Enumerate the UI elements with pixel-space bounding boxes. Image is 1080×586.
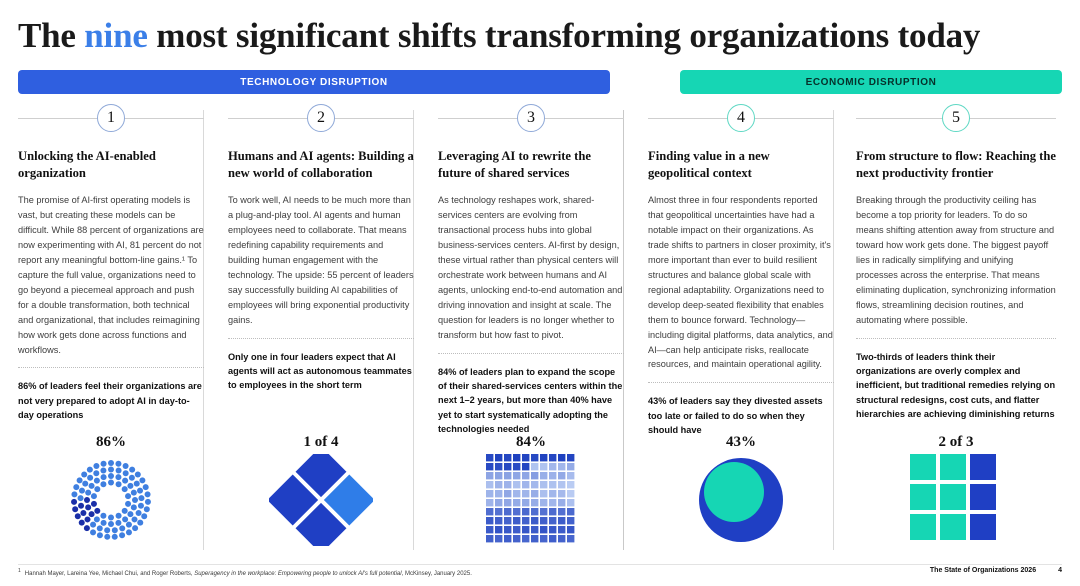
waffle-cell (486, 490, 493, 497)
page-title: The nine most significant shifts transfo… (18, 16, 1062, 56)
donut-dot-filled (143, 484, 149, 490)
waffle-cell (522, 517, 529, 524)
donut-dot-remainder (75, 513, 81, 519)
donut-dot-filled (82, 481, 88, 487)
page-number: 4 (1058, 567, 1062, 574)
waffle-cell (495, 454, 502, 461)
waffle-cell (549, 481, 556, 488)
waffle-cell (504, 490, 511, 497)
waffle-cell (549, 508, 556, 515)
column-number-row: 2 (228, 104, 414, 134)
waffle-cell (540, 490, 547, 497)
waffle-cell (567, 508, 574, 515)
donut-dot-remainder (94, 508, 100, 514)
grid-cell-remainder (970, 514, 996, 540)
waffle-cell (531, 472, 538, 479)
grid-cell-highlighted (940, 514, 966, 540)
waffle-cell (504, 508, 511, 515)
section-banners: TECHNOLOGY DISRUPTION ECONOMIC DISRUPTIO… (18, 70, 1062, 94)
stat-divider-2 (228, 338, 414, 339)
column-number-row: 3 (438, 104, 624, 134)
donut-dot-filled (78, 495, 84, 501)
waffle-cell (567, 481, 574, 488)
waffle-cell (531, 481, 538, 488)
donut-dot-filled (126, 522, 132, 528)
donut-dot-remainder (85, 516, 91, 522)
donut-dot-filled (119, 532, 125, 538)
shift-column-3: 3 Leveraging AI to rewrite the future of… (438, 104, 624, 554)
donut-dot-filled (116, 467, 122, 473)
waffle-cell (540, 535, 547, 542)
waffle-cell (531, 499, 538, 506)
column-heading-4: Finding value in a new geopolitical cont… (648, 148, 834, 181)
donut-dot-filled (112, 527, 118, 533)
number-badge-2: 2 (307, 104, 335, 132)
donut-dot-filled (138, 495, 144, 501)
donut-dot-filled (108, 515, 114, 521)
figure-label-1: 86% (18, 434, 204, 454)
waffle-cell (522, 481, 529, 488)
number-badge-5: 5 (942, 104, 970, 132)
donut-dot-filled (137, 520, 143, 526)
waffle-cell (504, 499, 511, 506)
donut-dot-filled (132, 497, 138, 503)
donut-dot-filled (116, 513, 122, 519)
waffle-cell (531, 463, 538, 470)
waffle-cell (540, 499, 547, 506)
waffle-cell (522, 526, 529, 533)
donut-dot-filled (108, 473, 114, 479)
donut-dot-filled (125, 493, 131, 499)
donut-dot-filled (131, 504, 137, 510)
column-body-2: To work well, AI needs to be much more t… (228, 193, 414, 327)
page-footer: 1Hannah Mayer, Lareina Yee, Michael Chui… (0, 566, 1080, 582)
donut-dot-filled (137, 488, 143, 494)
donut-dot-filled (138, 503, 144, 509)
waffle-cell (531, 535, 538, 542)
waffle-cell (495, 535, 502, 542)
waffle-cell (540, 526, 547, 533)
donut-dot-filled (139, 477, 145, 483)
figure-1: 86% (18, 434, 204, 554)
donut-dot-filled (91, 493, 97, 499)
donut-dot-filled (116, 481, 122, 487)
waffle-cell (486, 472, 493, 479)
waffle-cell (495, 517, 502, 524)
grid-cell-remainder (970, 484, 996, 510)
column-stat-5: Two-thirds of leaders think their organi… (856, 350, 1056, 422)
donut-dot-filled (93, 463, 99, 469)
waffle-cell (567, 535, 574, 542)
title-highlight-word: nine (84, 16, 147, 55)
waffle-cell (495, 499, 502, 506)
donut-dot-filled (94, 486, 100, 492)
donut-dot-filled (145, 491, 151, 497)
waffle-cell (522, 499, 529, 506)
donut-dot-remainder (71, 499, 77, 505)
column-stat-1: 86% of leaders feel their organizations … (18, 379, 204, 422)
grid-cell-highlighted (940, 454, 966, 480)
waffle-cell (558, 526, 565, 533)
donut-dot-filled (104, 534, 110, 540)
donut-dot-filled (90, 522, 96, 528)
column-number-row: 5 (856, 104, 1056, 134)
donut-dot-filled (112, 534, 118, 540)
donut-dot-filled (100, 481, 106, 487)
column-heading-2: Humans and AI agents: Building a new wor… (228, 148, 414, 181)
donut-dot-filled (136, 510, 142, 516)
waffle-cell (540, 517, 547, 524)
footnote-marker: 1 (18, 568, 21, 574)
waffle-cell (558, 463, 565, 470)
donut-dot-filled (101, 474, 107, 480)
diamond-quad-chart (269, 454, 373, 546)
donut-dot-filled (122, 508, 128, 514)
column-body-5: Breaking through the productivity ceilin… (856, 193, 1056, 327)
donut-dot-remainder (80, 510, 86, 516)
waffle-cell (495, 472, 502, 479)
donut-dot-filled (122, 516, 128, 522)
donut-dot-filled (115, 520, 121, 526)
donut-dot-filled (131, 490, 137, 496)
donut-dot-filled (145, 499, 151, 505)
donut-dot-filled (104, 527, 110, 533)
columns-container: 1 Unlocking the AI-enabled organization … (18, 104, 1062, 554)
report-name: The State of Organizations 2026 (930, 567, 1036, 574)
waffle-cell (495, 490, 502, 497)
waffle-cell (522, 535, 529, 542)
column-body-3: As technology reshapes work, shared-serv… (438, 193, 624, 342)
stat-divider-5 (856, 338, 1056, 339)
grid-cell-highlighted (940, 484, 966, 510)
donut-dot-remainder (91, 501, 97, 507)
waffle-cell (567, 463, 574, 470)
waffle-cell (558, 499, 565, 506)
donut-dot-remainder (72, 506, 78, 512)
waffle-cell (531, 454, 538, 461)
waffle-cell (549, 526, 556, 533)
column-body-1: The promise of AI-first operating models… (18, 193, 204, 357)
footnote-title: Superagency in the workplace: Empowering… (194, 571, 401, 577)
donut-dot-filled (89, 483, 95, 489)
number-badge-3: 3 (517, 104, 545, 132)
donut-dot-filled (94, 478, 100, 484)
waffle-cell (504, 517, 511, 524)
waffle-cell (495, 481, 502, 488)
waffle-cell (486, 481, 493, 488)
waffle-cell (558, 454, 565, 461)
waffle-cell (549, 472, 556, 479)
column-number-row: 4 (648, 104, 834, 134)
waffle-cell (540, 463, 547, 470)
figure-art-dot-donut (18, 454, 204, 550)
shift-column-5: 5 From structure to flow: Reaching the n… (856, 104, 1056, 554)
figure-label-2: 1 of 4 (228, 434, 414, 454)
donut-dot-filled (100, 467, 106, 473)
waffle-cell (513, 526, 520, 533)
figure-5: 2 of 3 (856, 434, 1056, 554)
shift-column-1: 1 Unlocking the AI-enabled organization … (18, 104, 204, 554)
waffle-cell (549, 490, 556, 497)
waffle-cell (513, 463, 520, 470)
figure-art-circles (648, 454, 834, 550)
waffle-cell (549, 463, 556, 470)
circle-share (704, 462, 764, 522)
waffle-cell (567, 517, 574, 524)
waffle-grid-chart (486, 454, 576, 544)
waffle-cell (549, 535, 556, 542)
donut-dot-filled (134, 481, 140, 487)
donut-dot-filled (132, 525, 138, 531)
donut-dot-filled (141, 513, 147, 519)
number-badge-4: 4 (727, 104, 755, 132)
footnote: 1Hannah Mayer, Lareina Yee, Michael Chui… (18, 568, 472, 577)
footnote-source: , McKinsey, January 2025. (402, 571, 472, 577)
waffle-cell (540, 454, 547, 461)
waffle-cell (549, 454, 556, 461)
waffle-cell (504, 526, 511, 533)
figure-art-diamonds (228, 454, 414, 550)
column-stat-4: 43% of leaders say they divested assets … (648, 394, 834, 437)
waffle-cell (540, 508, 547, 515)
waffle-cell (558, 490, 565, 497)
donut-dot-filled (132, 516, 138, 522)
figure-4: 43% (648, 434, 834, 554)
waffle-cell (531, 508, 538, 515)
waffle-cell (522, 454, 529, 461)
banner-technology-disruption: TECHNOLOGY DISRUPTION (18, 70, 610, 94)
column-number-row: 1 (18, 104, 204, 134)
footnote-authors: Hannah Mayer, Lareina Yee, Michael Chui,… (25, 571, 194, 577)
donut-dot-filled (87, 475, 93, 481)
waffle-cell (486, 517, 493, 524)
waffle-cell (558, 508, 565, 515)
waffle-cell (513, 508, 520, 515)
donut-dot-filled (129, 467, 135, 473)
donut-dot-filled (94, 516, 100, 522)
dot-donut-chart (46, 454, 176, 546)
waffle-cell (486, 499, 493, 506)
donut-dot-remainder (84, 525, 90, 531)
donut-dot-filled (115, 474, 121, 480)
waffle-cell (513, 454, 520, 461)
figure-label-5: 2 of 3 (856, 434, 1056, 454)
donut-dot-filled (125, 501, 131, 507)
donut-dot-filled (126, 529, 132, 535)
donut-dot-filled (119, 525, 125, 531)
donut-dot-filled (123, 470, 129, 476)
waffle-cell (567, 454, 574, 461)
donut-dot-remainder (85, 504, 91, 510)
stat-divider-3 (438, 353, 624, 354)
waffle-cell (567, 499, 574, 506)
overlapping-circles-chart (691, 454, 791, 546)
waffle-cell (522, 508, 529, 515)
stat-divider-1 (18, 367, 204, 368)
stat-divider-4 (648, 382, 834, 383)
waffle-cell (558, 472, 565, 479)
waffle-cell (486, 508, 493, 515)
donut-dot-remainder (84, 497, 90, 503)
waffle-cell (495, 463, 502, 470)
three-by-three-grid-chart (910, 454, 1002, 546)
waffle-cell (513, 490, 520, 497)
waffle-cell (558, 535, 565, 542)
title-text-after: most significant shifts transforming org… (148, 16, 981, 55)
number-badge-1: 1 (97, 104, 125, 132)
column-body-4: Almost three in four respondents reporte… (648, 193, 834, 372)
donut-dot-remainder (89, 511, 95, 517)
column-heading-3: Leveraging AI to rewrite the future of s… (438, 148, 624, 181)
waffle-cell (486, 454, 493, 461)
waffle-cell (531, 526, 538, 533)
waffle-cell (486, 535, 493, 542)
column-stat-3: 84% of leaders plan to expand the scope … (438, 365, 624, 437)
waffle-cell (567, 490, 574, 497)
banner-economic-disruption: ECONOMIC DISRUPTION (680, 70, 1062, 94)
waffle-cell (567, 526, 574, 533)
donut-dot-filled (144, 506, 150, 512)
waffle-cell (495, 508, 502, 515)
column-heading-1: Unlocking the AI-enabled organization (18, 148, 204, 181)
waffle-cell (513, 535, 520, 542)
donut-dot-filled (123, 463, 129, 469)
grid-cell-highlighted (910, 484, 936, 510)
waffle-cell (504, 472, 511, 479)
donut-dot-filled (79, 488, 85, 494)
waffle-cell (513, 481, 520, 488)
donut-dot-filled (135, 472, 141, 478)
figure-art-grid3 (856, 454, 1056, 550)
grid-cell-highlighted (910, 454, 936, 480)
figure-art-waffle (438, 454, 624, 550)
figure-3: 84% (438, 434, 624, 554)
donut-dot-filled (100, 513, 106, 519)
waffle-cell (540, 481, 547, 488)
infographic-page: The nine most significant shifts transfo… (0, 0, 1080, 586)
shift-column-4: 4 Finding value in a new geopolitical co… (648, 104, 834, 554)
donut-dot-filled (122, 486, 128, 492)
waffle-cell (549, 499, 556, 506)
waffle-cell (504, 535, 511, 542)
donut-dot-filled (127, 511, 133, 517)
grid-cell-highlighted (910, 514, 936, 540)
donut-dot-filled (129, 475, 135, 481)
donut-dot-filled (85, 490, 91, 496)
grid-cell-remainder (970, 454, 996, 480)
donut-dot-filled (108, 480, 114, 486)
waffle-cell (513, 472, 520, 479)
footer-rule (18, 564, 1062, 565)
waffle-cell (558, 481, 565, 488)
column-stat-2: Only one in four leaders expect that AI … (228, 350, 414, 393)
figure-label-4: 43% (648, 434, 834, 454)
waffle-cell (522, 490, 529, 497)
waffle-cell (531, 517, 538, 524)
waffle-cell (522, 472, 529, 479)
figure-label-3: 84% (438, 434, 624, 454)
donut-dot-filled (108, 460, 114, 466)
waffle-cell (567, 472, 574, 479)
title-text-before: The (18, 16, 84, 55)
waffle-cell (513, 517, 520, 524)
donut-dot-filled (115, 461, 121, 467)
donut-dot-filled (122, 478, 128, 484)
donut-dot-filled (97, 532, 103, 538)
donut-dot-filled (81, 472, 87, 478)
donut-dot-remainder (79, 520, 85, 526)
donut-dot-filled (77, 477, 83, 483)
waffle-cell (486, 526, 493, 533)
donut-dot-filled (127, 483, 133, 489)
waffle-cell (504, 481, 511, 488)
donut-dot-filled (73, 484, 79, 490)
waffle-cell (549, 517, 556, 524)
donut-dot-filled (97, 525, 103, 531)
footer-right: The State of Organizations 20264 (930, 567, 1062, 574)
column-heading-5: From structure to flow: Reaching the nex… (856, 148, 1056, 181)
waffle-cell (522, 463, 529, 470)
donut-dot-filled (90, 529, 96, 535)
donut-dot-filled (71, 491, 77, 497)
waffle-cell (504, 454, 511, 461)
waffle-cell (504, 463, 511, 470)
figure-2: 1 of 4 (228, 434, 414, 554)
waffle-cell (558, 517, 565, 524)
waffle-cell (486, 463, 493, 470)
shift-column-2: 2 Humans and AI agents: Building a new w… (228, 104, 414, 554)
donut-dot-remainder (78, 503, 84, 509)
waffle-cell (513, 499, 520, 506)
donut-dot-filled (87, 467, 93, 473)
waffle-cell (495, 526, 502, 533)
donut-dot-filled (101, 520, 107, 526)
donut-dot-filled (101, 461, 107, 467)
donut-dot-filled (108, 521, 114, 527)
waffle-cell (531, 490, 538, 497)
waffle-cell (540, 472, 547, 479)
donut-dot-filled (93, 470, 99, 476)
donut-dot-filled (108, 467, 114, 473)
